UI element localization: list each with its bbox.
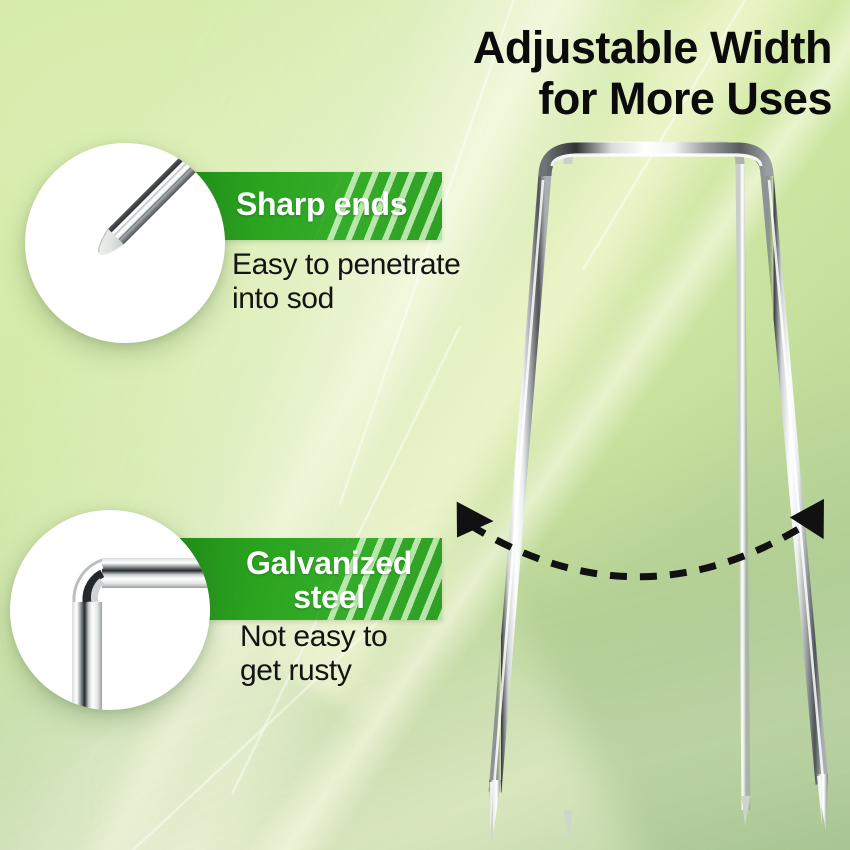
feature-banner-label: Galvanized steel — [180, 538, 442, 615]
galvanized-bend-icon — [10, 510, 210, 710]
feature-description-sharp-ends: Easy to penetrate into sod — [232, 248, 502, 315]
adjust-width-arrow — [430, 480, 850, 630]
headline-line-2: for More Uses — [402, 73, 832, 124]
arrow-head-left — [442, 491, 493, 539]
headline-line-1: Adjustable Width — [402, 22, 832, 73]
sharp-pin-tip-icon — [25, 143, 225, 343]
headline: Adjustable Width for More Uses — [402, 22, 832, 125]
inset-photo-galvanized-steel — [10, 510, 210, 710]
infographic-canvas: Adjustable Width for More Uses — [0, 0, 850, 850]
dashed-arc-path — [470, 522, 810, 577]
feature-banner-galvanized-steel: Galvanized steel — [180, 538, 442, 620]
feature-banner-label-line-2: steel — [216, 581, 442, 615]
feature-description-galvanized-steel: Not easy to get rusty — [240, 620, 510, 687]
feature-banner-label-line-1: Galvanized — [216, 547, 442, 581]
inset-photo-sharp-ends — [25, 143, 225, 343]
